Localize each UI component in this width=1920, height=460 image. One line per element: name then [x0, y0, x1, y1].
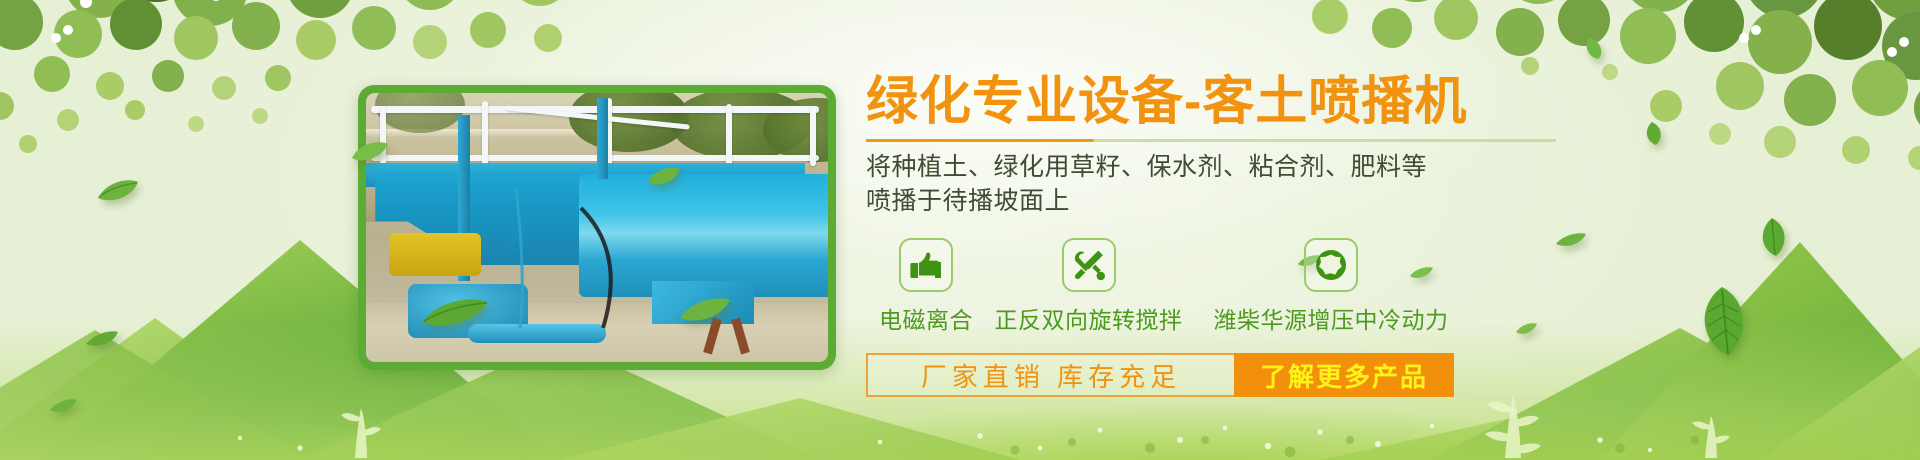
thumbs-up-icon	[899, 238, 953, 292]
feature-label: 潍柴华源增压中冷动力	[1214, 301, 1449, 335]
feature-item-bidirectional-mixing: 正反双向旋转搅拌	[986, 238, 1191, 335]
feature-item-electromagnetic-clutch: 电磁离合	[866, 238, 986, 335]
page-title: 绿化专业设备-客土喷播机	[866, 74, 1626, 130]
product-photo	[366, 93, 828, 362]
learn-more-button[interactable]: 了解更多产品	[1234, 353, 1454, 397]
feature-list: 电磁离合 正反双向旋转搅拌	[866, 238, 1626, 335]
product-photo-frame[interactable]	[358, 85, 836, 370]
leaf-icon	[84, 330, 120, 348]
subtitle-line-1: 将种植土、绿化用草籽、保水剂、粘合剂、肥料等	[866, 151, 1626, 185]
feature-label: 正反双向旋转搅拌	[995, 301, 1183, 335]
cta-row: 厂家直销 库存充足 了解更多产品	[866, 353, 1454, 397]
tools-icon	[1062, 238, 1116, 292]
leaf-icon	[1752, 216, 1792, 258]
turbocharger-icon	[1304, 238, 1358, 292]
banner-content: 绿化专业设备-客土喷播机 将种植土、绿化用草籽、保水剂、粘合剂、肥料等 喷播于待…	[866, 74, 1626, 397]
title-divider	[866, 139, 1556, 142]
subtitle-line-2: 喷播于待播坡面上	[866, 185, 1626, 219]
sales-note: 厂家直销 库存充足	[866, 353, 1234, 397]
banner-subtitle: 将种植土、绿化用草籽、保水剂、粘合剂、肥料等 喷播于待播坡面上	[866, 151, 1626, 218]
leaf-icon	[96, 178, 140, 204]
feature-item-turbo-power: 潍柴华源增压中冷动力	[1191, 238, 1471, 335]
leaf-icon	[1688, 284, 1758, 360]
leaf-icon	[48, 398, 78, 414]
promo-banner: 绿化专业设备-客土喷播机 将种植土、绿化用草籽、保水剂、粘合剂、肥料等 喷播于待…	[0, 0, 1920, 460]
leaf-icon	[1576, 36, 1606, 60]
feature-label: 电磁离合	[879, 301, 973, 335]
leaf-icon	[1636, 120, 1666, 146]
